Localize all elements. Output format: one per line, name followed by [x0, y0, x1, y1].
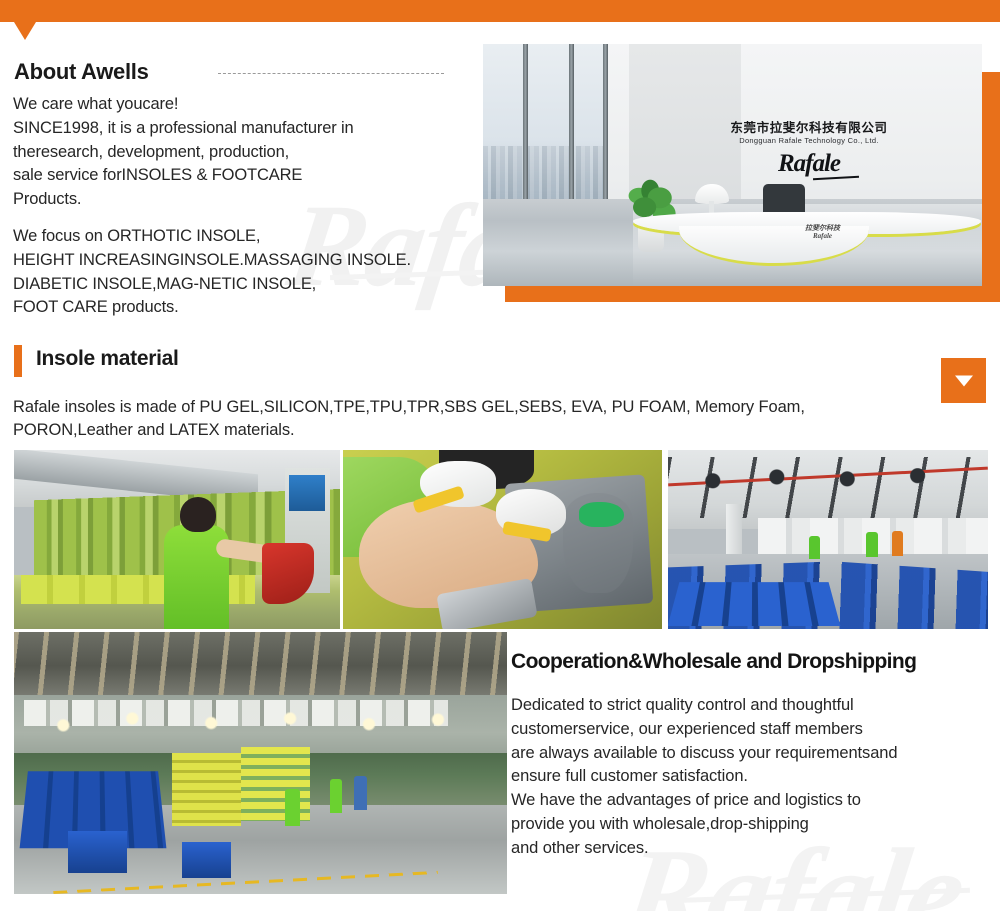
top-accent-bar	[0, 0, 1000, 22]
workshop-worker	[285, 789, 300, 826]
desk-logo-en: Rafale	[813, 232, 832, 240]
factory-worker-head	[180, 497, 216, 533]
cooperation-line: Dedicated to strict quality control and …	[511, 694, 991, 718]
workshop-roof-trusses	[14, 632, 507, 695]
about-line: We care what youcare!	[13, 93, 483, 117]
workshop-yellow-rack	[172, 753, 241, 826]
workshop-crate-cart	[182, 842, 231, 879]
warehouse-pendant-lamps	[668, 468, 988, 500]
insole-section-body: Rafale insoles is made of PU GEL,SILICON…	[13, 396, 943, 442]
about-line: theresearch, development, production,	[13, 141, 483, 165]
about-heading: About Awells	[14, 59, 149, 85]
warehouse-worker	[809, 536, 820, 559]
about-heading-divider	[218, 73, 444, 74]
insole-section-heading: Insole material	[36, 347, 179, 371]
office-scene: 东莞市拉斐尔科技有限公司 Dongguan Rafale Technology …	[483, 44, 982, 286]
workshop-worker	[354, 776, 367, 810]
about-line: HEIGHT INCREASINGINSOLE.MASSAGING INSOLE…	[13, 249, 483, 273]
warehouse-worker	[866, 532, 877, 557]
warehouse-worker	[892, 531, 903, 556]
about-line: FOOT CARE products.	[13, 296, 483, 320]
page-root: Rafale About Awells We care what youcare…	[0, 0, 1000, 911]
wall-rafale-logo: Rafale	[679, 150, 939, 178]
blue-crate-stacks-foreground	[668, 582, 841, 625]
cooperation-line: customerservice, our experienced staff m…	[511, 718, 991, 742]
cooperation-heading: Cooperation&Wholesale and Dropshipping	[511, 650, 916, 674]
hero-bottom-accent-bar	[505, 286, 1000, 302]
cooperation-line: and other services.	[511, 837, 991, 861]
insole-section-marker	[14, 345, 22, 377]
desk-logo-cn: 拉斐尔科技	[805, 224, 840, 232]
cooperation-line: are always available to discuss your req…	[511, 742, 991, 766]
about-body-text: We care what youcare! SINCE1998, it is a…	[13, 93, 483, 320]
about-line: We focus on ORTHOTIC INSOLE,	[13, 225, 483, 249]
insole-line: PORON,Leather and LATEX materials.	[13, 419, 943, 442]
about-line: DIABETIC INSOLE,MAG-NETIC INSOLE,	[13, 273, 483, 297]
wall-company-name-cn: 东莞市拉斐尔科技有限公司	[679, 117, 939, 136]
workshop-worker	[330, 779, 343, 813]
photo-gloved-hands-mould	[343, 450, 662, 629]
cooperation-line: ensure full customer satisfaction.	[511, 765, 991, 789]
green-insole-material	[579, 502, 624, 527]
rafale-watermark-bottom-underline	[670, 888, 970, 903]
scroll-down-button[interactable]	[941, 358, 986, 403]
about-line: Products.	[13, 188, 483, 212]
photo-injection-moulding-line	[14, 450, 340, 629]
paragraph-gap	[13, 212, 483, 225]
cooperation-line: We have the advantages of price and logi…	[511, 789, 991, 813]
insole-line: Rafale insoles is made of PU GEL,SILICON…	[13, 396, 943, 419]
workshop-lights	[14, 690, 507, 748]
photo-workshop-floor	[14, 632, 507, 894]
workshop-crate-cart	[68, 831, 127, 873]
hero-office-image: 东莞市拉斐尔科技有限公司 Dongguan Rafale Technology …	[483, 44, 982, 286]
about-line: sale service forINSOLES & FOOTCARE	[13, 164, 483, 188]
about-line: SINCE1998, it is a professional manufact…	[13, 117, 483, 141]
wall-company-name-en: Dongguan Rafale Technology Co., Ltd.	[679, 136, 939, 145]
top-accent-notch-icon	[14, 22, 36, 40]
cooperation-line: provide you with wholesale,drop-shipping	[511, 813, 991, 837]
chevron-down-icon	[955, 375, 973, 386]
photo-warehouse-blue-crates	[668, 450, 988, 629]
desk-logo: 拉斐尔科技 Rafale	[805, 224, 840, 240]
cooperation-body: Dedicated to strict quality control and …	[511, 694, 991, 861]
factory-touch-screen	[289, 475, 325, 511]
